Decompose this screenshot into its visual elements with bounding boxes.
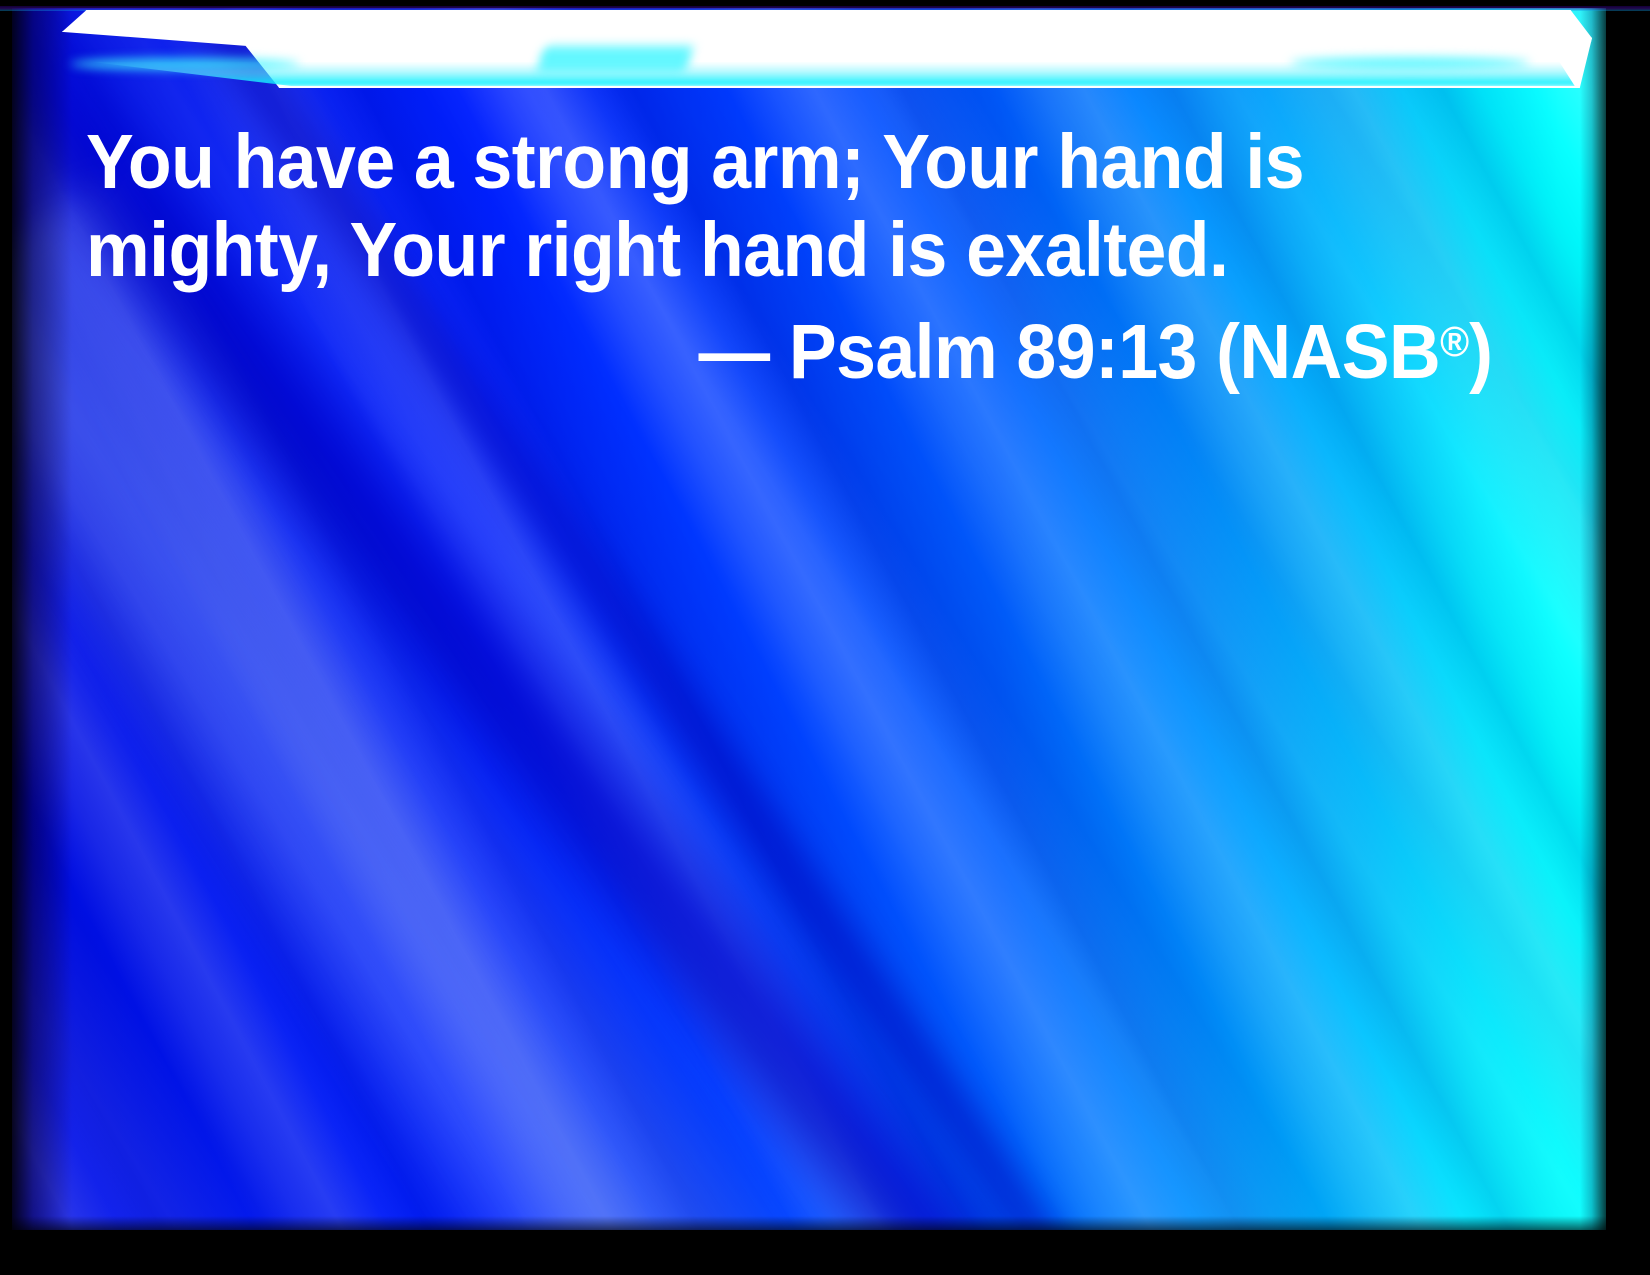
background-art-panel [12,8,1606,1230]
left-edge-shadow [12,8,72,1230]
dark-navy-diagonal-stripe-thin [12,8,1098,1230]
pale-light-wedge [12,166,935,1230]
diagonal-rays-layer-primary [12,8,1606,1230]
right-edge-shadow [1580,8,1606,1230]
diagonal-rays-layer-secondary [12,8,1606,1230]
dark-navy-diagonal-stripe [12,8,1076,1230]
verse-image-canvas: You have a strong arm; Your hand is migh… [0,0,1650,1275]
bottom-edge-shadow [12,1216,1606,1230]
